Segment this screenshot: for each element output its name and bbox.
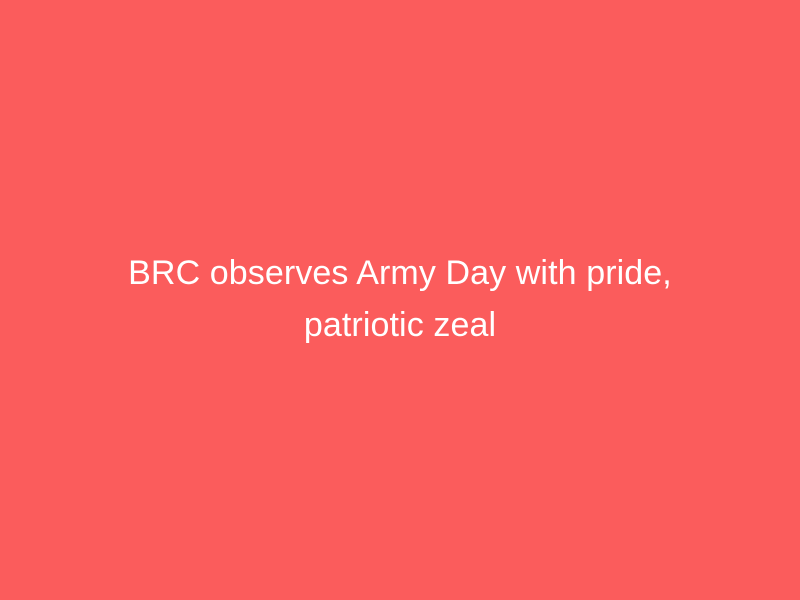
headline-text-block: BRC observes Army Day with pride, patrio… xyxy=(64,247,736,351)
headline-card: BRC observes Army Day with pride, patrio… xyxy=(0,0,800,600)
headline-title: BRC observes Army Day with pride, patrio… xyxy=(64,247,736,351)
